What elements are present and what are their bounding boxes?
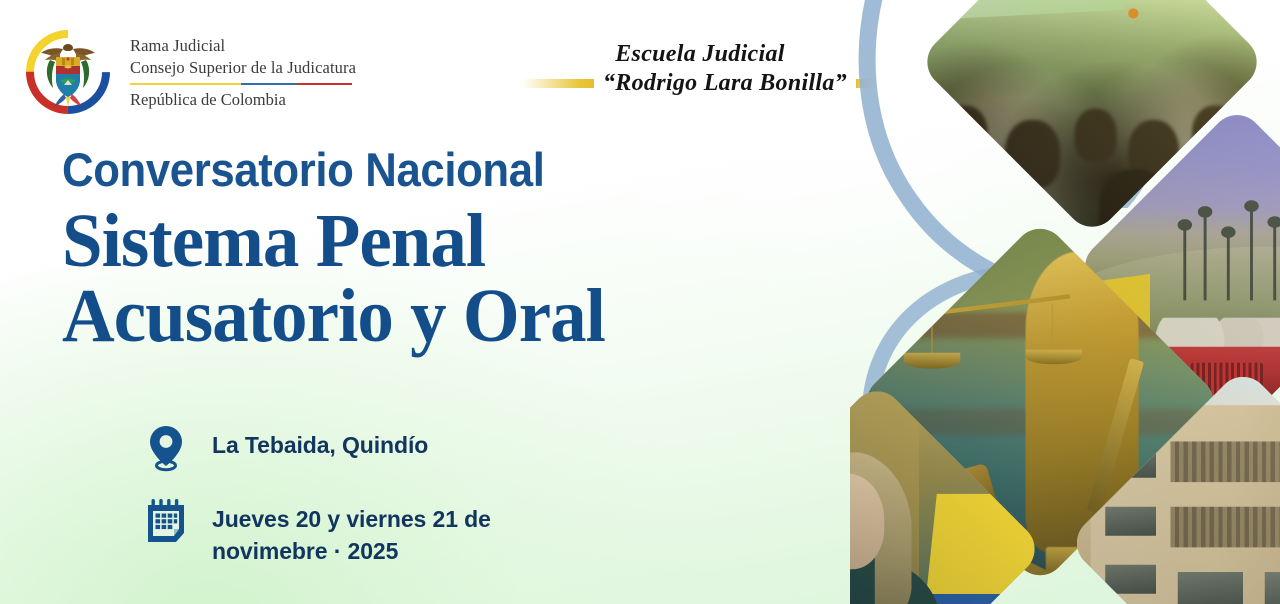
gold-accent-bar-left <box>522 79 594 88</box>
date-text: Jueves 20 y viernes 21 de novimebre · 20… <box>212 498 512 567</box>
institution-line-1: Rama Judicial <box>130 35 356 57</box>
judicial-school-block: Escuela Judicial “Rodrigo Lara Bonilla” <box>520 40 880 97</box>
headline-title: Sistema Penal Acusatorio y Oral <box>62 204 605 354</box>
location-pin-icon <box>144 424 188 472</box>
photo-collage <box>850 0 1280 604</box>
headline-title-line-1: Sistema Penal <box>62 204 605 279</box>
headline-title-line-2: Acusatorio y Oral <box>62 279 605 354</box>
school-line-1: Escuela Judicial <box>520 40 880 69</box>
escudo-colombia-icon <box>20 24 116 120</box>
headline-block: Conversatorio Nacional Sistema Penal Acu… <box>62 146 628 354</box>
event-details: La Tebaida, Quindío <box>144 424 512 593</box>
event-poster: Rama Judicial Consejo Superior de la Jud… <box>0 0 1280 604</box>
institution-name-block: Rama Judicial Consejo Superior de la Jud… <box>130 33 356 111</box>
location-text: La Tebaida, Quindío <box>212 424 428 462</box>
headline-kicker: Conversatorio Nacional <box>62 146 588 195</box>
institution-logo-block: Rama Judicial Consejo Superior de la Jud… <box>20 24 356 120</box>
calendar-icon <box>144 498 188 544</box>
institution-line-2: Consejo Superior de la Judicatura <box>130 57 356 79</box>
colombia-flag-rule <box>130 83 352 86</box>
school-line-2: “Rodrigo Lara Bonilla” <box>603 70 847 97</box>
detail-row-date: Jueves 20 y viernes 21 de novimebre · 20… <box>144 498 512 567</box>
institution-line-3: República de Colombia <box>130 89 356 110</box>
detail-row-location: La Tebaida, Quindío <box>144 424 512 472</box>
